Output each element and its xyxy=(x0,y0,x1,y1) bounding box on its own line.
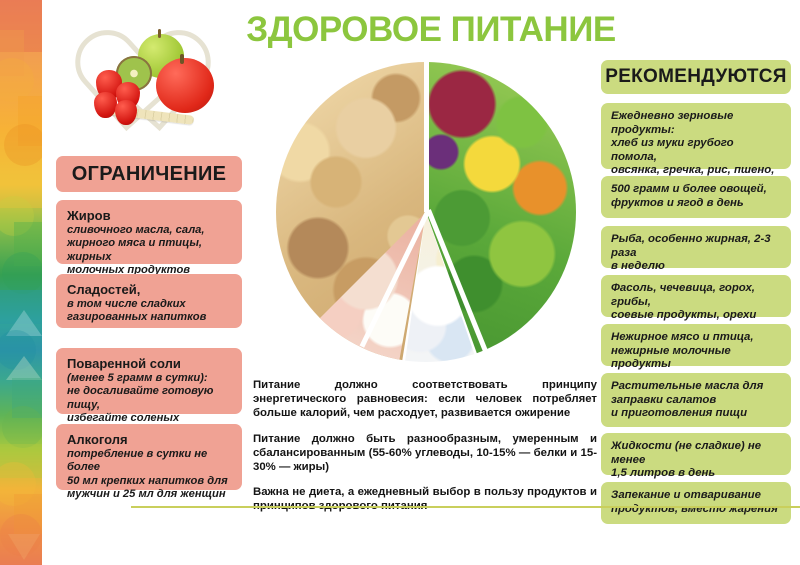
restriction-heading-panel: ОГРАНИЧЕНИЕ xyxy=(56,156,242,192)
recommended-item-text: Фасоль, чечевица, горох, грибы, соевые п… xyxy=(601,275,791,330)
restriction-detail: потребление в сутки не более 50 мл крепк… xyxy=(67,448,232,502)
recommended-item-fish[interactable]: Рыба, особенно жирная, 2-3 раза в неделю xyxy=(601,226,791,268)
poster-canvas: ЗДОРОВОЕ ПИТАНИЕ ОГРАНИЧЕНИЕ Жиров сливо… xyxy=(0,0,800,565)
restriction-detail: сливочного масла, сала, жирного мяса и п… xyxy=(67,224,232,278)
recommended-item-fluids[interactable]: Жидкости (не сладкие) не менее 1,5 литро… xyxy=(601,433,791,475)
recommended-item-text: Рыба, особенно жирная, 2-3 раза в неделю xyxy=(601,226,791,281)
restriction-term: Жиров xyxy=(67,208,232,224)
recommended-heading-label: РЕКОМЕНДУЮТСЯ xyxy=(601,60,791,94)
recommended-item-text: 500 грамм и более овощей, фруктов и ягод… xyxy=(601,176,791,217)
recommended-item-text: Нежирное мясо и птица, нежирные молочные… xyxy=(601,324,791,379)
heart-fruit-photo xyxy=(72,18,232,148)
restriction-term: Алкоголя xyxy=(67,432,232,448)
restriction-term: Поваренной соли xyxy=(67,356,232,372)
recommended-heading-panel: РЕКОМЕНДУЮТСЯ xyxy=(601,60,791,94)
advice-paragraph-energy-balance: Питание должно соответствовать принципу … xyxy=(253,378,597,421)
recommended-item-legumes[interactable]: Фасоль, чечевица, горох, грибы, соевые п… xyxy=(601,275,791,317)
decorative-mosaic-strip xyxy=(0,0,42,565)
recommended-item-text: Жидкости (не сладкие) не менее 1,5 литро… xyxy=(601,433,791,488)
restriction-item-fats[interactable]: Жиров сливочного масла, сала, жирного мя… xyxy=(56,200,242,264)
recommended-item-lean-meat[interactable]: Нежирное мясо и птица, нежирные молочные… xyxy=(601,324,791,366)
plate-divider-vertical xyxy=(424,62,429,212)
restriction-item-salt[interactable]: Поваренной соли (менее 5 грамм в сутки):… xyxy=(56,348,242,414)
restriction-detail: в том числе сладких газированных напитко… xyxy=(67,298,232,325)
healthy-eating-plate-image xyxy=(276,62,576,362)
advice-paragraph-daily-choice: Важна не диета, а ежедневный выбор в пол… xyxy=(253,485,597,513)
restriction-heading-label: ОГРАНИЧЕНИЕ xyxy=(56,156,242,192)
restriction-item-alcohol[interactable]: Алкоголя потребление в сутки не более 50… xyxy=(56,424,242,490)
restriction-term: Сладостей, xyxy=(67,282,232,298)
recommended-item-text: Растительные масла для заправки салатов … xyxy=(601,373,791,428)
page-title: ЗДОРОВОЕ ПИТАНИЕ xyxy=(246,9,616,51)
restriction-item-sweets[interactable]: Сладостей, в том числе сладких газирован… xyxy=(56,274,242,328)
recommended-item-grains[interactable]: Ежедневно зерновые продукты: хлеб из мук… xyxy=(601,103,791,169)
recommended-item-vegetables[interactable]: 500 грамм и более овощей, фруктов и ягод… xyxy=(601,176,791,218)
center-advice-block: Питание должно соответствовать принципу … xyxy=(253,378,597,514)
tomato-icon xyxy=(156,58,214,113)
recommended-item-cooking-method[interactable]: Запекание и отваривание продуктов, вмест… xyxy=(601,482,791,524)
recommended-item-text: Запекание и отваривание продуктов, вмест… xyxy=(601,482,791,523)
recommended-item-vegetable-oils[interactable]: Растительные масла для заправки салатов … xyxy=(601,373,791,427)
advice-paragraph-balanced-diet: Питание должно быть разнообразным, умере… xyxy=(253,432,597,475)
bottom-divider xyxy=(131,506,800,508)
